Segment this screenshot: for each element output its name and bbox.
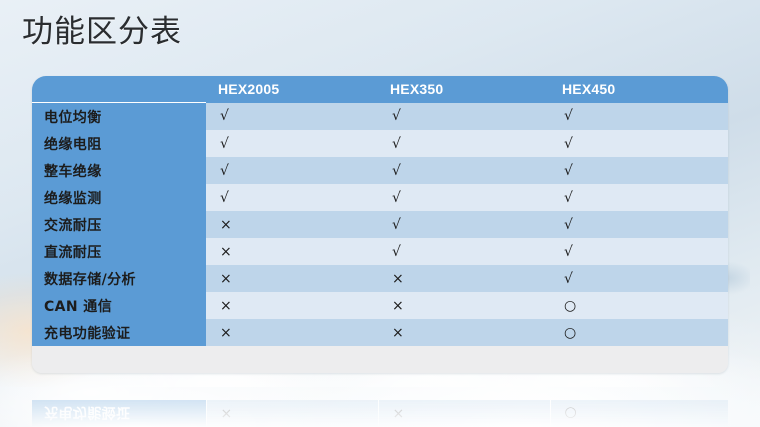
- cell-hex350: √: [378, 130, 550, 157]
- table-row: 整车绝缘 √ √ √: [32, 157, 728, 184]
- footer-cell: [206, 346, 378, 373]
- cell-hex450: ○: [550, 292, 728, 319]
- table-row: 电位均衡 √ √ √: [32, 103, 728, 131]
- table-row: 绝缘监测 √ √ √: [32, 184, 728, 211]
- table-row: 交流耐压 × √ √: [32, 211, 728, 238]
- row-label: 绝缘监测: [32, 184, 206, 211]
- cell-hex450: √: [550, 103, 728, 131]
- cell-hex350: √: [378, 157, 550, 184]
- cell-hex2005: ×: [206, 238, 378, 265]
- row-label: 数据存储/分析: [32, 265, 206, 292]
- feature-comparison-table: HEX2005 HEX350 HEX450 电位均衡 √ √ √ 绝缘电阻 √ …: [32, 76, 728, 373]
- cell-hex2005: √: [206, 157, 378, 184]
- table-row: 绝缘电阻 √ √ √: [32, 130, 728, 157]
- page-title: 功能区分表: [22, 12, 182, 52]
- cell-hex350: √: [378, 184, 550, 211]
- cell-hex2005: √: [206, 103, 378, 131]
- cell-hex350: √: [378, 238, 550, 265]
- footer-cell: [550, 346, 728, 373]
- cell-hex450: √: [550, 157, 728, 184]
- table-reflection: 充电功能验证 × × ○: [32, 400, 728, 427]
- table-row: 充电功能验证 × × ○: [32, 400, 728, 427]
- column-header-hex450: HEX450: [550, 76, 728, 103]
- table-row: 充电功能验证 × × ○: [32, 319, 728, 346]
- cell-hex2005: √: [206, 130, 378, 157]
- table-header-row: HEX2005 HEX350 HEX450: [32, 76, 728, 103]
- cell-hex350: ×: [378, 265, 550, 292]
- cell-hex350: ×: [378, 292, 550, 319]
- cell-hex2005: ×: [206, 400, 378, 427]
- slide-canvas: 功能区分表 HEX2005 HEX350 HEX450 电位均衡 √ √ √: [0, 0, 760, 427]
- cell-hex450: √: [550, 211, 728, 238]
- row-label: 绝缘电阻: [32, 130, 206, 157]
- cell-hex450: ○: [550, 319, 728, 346]
- table-row: CAN 通信 × × ○: [32, 292, 728, 319]
- row-label: 充电功能验证: [32, 400, 206, 427]
- row-label: CAN 通信: [32, 292, 206, 319]
- cell-hex2005: ×: [206, 319, 378, 346]
- cell-hex450: √: [550, 130, 728, 157]
- column-header-blank: [32, 76, 206, 103]
- table-header: HEX2005 HEX350 HEX450: [32, 76, 728, 103]
- row-label: 整车绝缘: [32, 157, 206, 184]
- table-row: 数据存储/分析 × × √: [32, 265, 728, 292]
- table-footer-spacer: [32, 346, 728, 373]
- cell-hex350: ×: [378, 319, 550, 346]
- column-header-hex2005: HEX2005: [206, 76, 378, 103]
- table-reflection-row: 充电功能验证 × × ○: [32, 400, 728, 427]
- column-header-hex350: HEX350: [378, 76, 550, 103]
- cell-hex450: √: [550, 238, 728, 265]
- cell-hex2005: ×: [206, 211, 378, 238]
- cell-hex2005: √: [206, 184, 378, 211]
- cell-hex350: √: [378, 103, 550, 131]
- cell-hex450: ○: [550, 400, 728, 427]
- row-label: 充电功能验证: [32, 319, 206, 346]
- cell-hex350: ×: [378, 400, 550, 427]
- row-label: 交流耐压: [32, 211, 206, 238]
- cell-hex350: √: [378, 211, 550, 238]
- feature-comparison-table-wrapper: HEX2005 HEX350 HEX450 电位均衡 √ √ √ 绝缘电阻 √ …: [32, 76, 728, 373]
- footer-cell: [32, 346, 206, 373]
- cell-hex2005: ×: [206, 265, 378, 292]
- row-label: 直流耐压: [32, 238, 206, 265]
- table-row: 直流耐压 × √ √: [32, 238, 728, 265]
- footer-cell: [378, 346, 550, 373]
- cell-hex2005: ×: [206, 292, 378, 319]
- cell-hex450: √: [550, 184, 728, 211]
- row-label: 电位均衡: [32, 103, 206, 131]
- cell-hex450: √: [550, 265, 728, 292]
- table-body: 电位均衡 √ √ √ 绝缘电阻 √ √ √ 整车绝缘 √ √ √: [32, 103, 728, 374]
